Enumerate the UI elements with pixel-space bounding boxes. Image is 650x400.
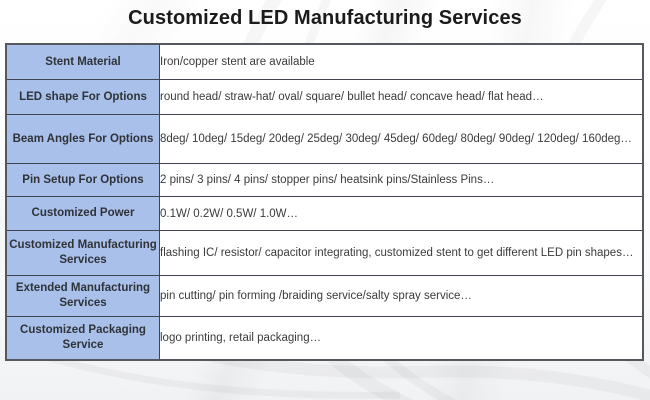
table-row: Pin Setup For Options 2 pins/ 3 pins/ 4 … [6,164,643,197]
row-value-customized-packaging-service: logo printing, retail packaging… [160,317,644,361]
slide-canvas: Customized LED Manufacturing Services St… [0,0,650,400]
row-value-customized-manufacturing-services: flashing IC/ resistor/ capacitor integra… [160,231,644,276]
row-label-extended-manufacturing-services: Extended Manufacturing Services [6,276,160,317]
row-label-beam-angles-for-options: Beam Angles For Options [6,115,160,164]
row-label-pin-setup-for-options: Pin Setup For Options [6,164,160,197]
row-value-extended-manufacturing-services: pin cutting/ pin forming /braiding servi… [160,276,644,317]
row-value-stent-material: Iron/copper stent are available [160,44,644,80]
table-row: Beam Angles For Options 8deg/ 10deg/ 15d… [6,115,643,164]
row-label-stent-material: Stent Material [6,44,160,80]
row-label-led-shape-for-options: LED shape For Options [6,80,160,115]
table-row: Customized Power 0.1W/ 0.2W/ 0.5W/ 1.0W… [6,197,643,231]
row-label-customized-manufacturing-services: Customized Manufacturing Services [6,231,160,276]
page-title: Customized LED Manufacturing Services [0,7,650,30]
table-row: Customized Manufacturing Services flashi… [6,231,643,276]
table-row: Extended Manufacturing Services pin cutt… [6,276,643,317]
row-label-customized-power: Customized Power [6,197,160,231]
specifications-table: Stent Material Iron/copper stent are ava… [5,43,644,361]
row-label-customized-packaging-service: Customized Packaging Service [6,317,160,361]
row-value-customized-power: 0.1W/ 0.2W/ 0.5W/ 1.0W… [160,197,644,231]
table-row: Customized Packaging Service logo printi… [6,317,643,361]
row-value-beam-angles-for-options: 8deg/ 10deg/ 15deg/ 20deg/ 25deg/ 30deg/… [160,115,644,164]
row-value-led-shape-for-options: round head/ straw-hat/ oval/ square/ bul… [160,80,644,115]
table-row: Stent Material Iron/copper stent are ava… [6,44,643,80]
row-value-pin-setup-for-options: 2 pins/ 3 pins/ 4 pins/ stopper pins/ he… [160,164,644,197]
table-row: LED shape For Options round head/ straw-… [6,80,643,115]
